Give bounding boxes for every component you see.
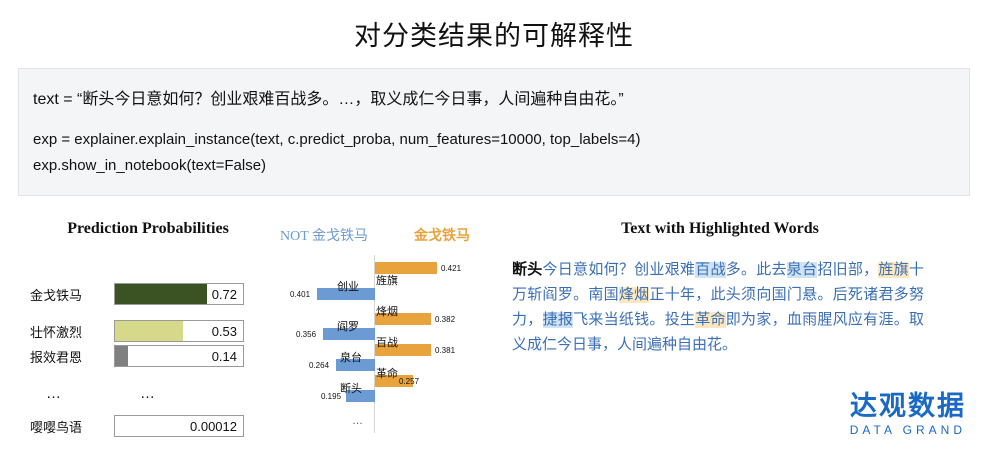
lime-value: 0.356 (296, 330, 316, 339)
text-segment-highlight: 烽烟 (619, 287, 650, 303)
lime-value: 0.381 (435, 346, 455, 355)
lime-word: 泉台 (340, 349, 362, 365)
prediction-probabilities-title: Prediction Probabilities (38, 220, 258, 238)
lime-word: 断头 (340, 380, 362, 396)
text-segment: 断头 (512, 262, 543, 278)
highlighted-text-body: 断头今日意如何？创业艰难百战多。此去泉台招旧部，旌旗十万斩阎罗。南国烽烟正十年，… (512, 258, 924, 358)
prediction-ellipsis-label: … (46, 385, 61, 402)
lime-value: 0.382 (435, 315, 455, 324)
code-line-text: text = “断头今日意如何？创业艰难百战多。…，取义成仁今日事，人间遍种自由… (33, 85, 624, 109)
lime-word: 阎罗 (337, 318, 359, 334)
text-segment-highlight: 百战 (695, 262, 726, 278)
code-line-show: exp.show_in_notebook(text=False) (33, 157, 266, 174)
text-segment: 今日意如何？ (543, 262, 635, 278)
lime-word: 百战 (376, 334, 398, 350)
prediction-label: 壮怀激烈 (30, 322, 108, 341)
lime-value: 0.401 (290, 290, 310, 299)
brand-logo: 达观数据 DATA GRAND (850, 391, 966, 437)
legend-negative-label: NOT 金戈铁马 (262, 225, 386, 245)
text-segment: 飞来当纸钱。投生 (573, 312, 695, 328)
text-segment: 艰难 (665, 262, 696, 278)
code-line-explain: exp = explainer.explain_instance(text, c… (33, 131, 641, 148)
lime-word: 创业 (337, 278, 359, 294)
prediction-bar-fill (115, 346, 128, 366)
prediction-label: 报效君恩 (30, 347, 108, 366)
lime-ellipsis: … (352, 415, 363, 427)
text-segment: 阎罗 (543, 287, 574, 303)
prediction-value: 0.00012 (190, 419, 237, 434)
prediction-label: 金戈铁马 (30, 285, 108, 304)
prediction-bar-track: 0.00012 (114, 415, 244, 437)
prediction-bar-track: 0.14 (114, 345, 244, 367)
prediction-value: 0.14 (212, 349, 237, 364)
code-block: text = “断头今日意如何？创业艰难百战多。…，取义成仁今日事，人间遍种自由… (18, 68, 970, 196)
lime-value: 0.264 (309, 361, 329, 370)
logo-subtitle: DATA GRAND (850, 423, 966, 437)
text-segment-highlight: 革命 (695, 312, 726, 328)
lime-value: 0.421 (441, 264, 461, 273)
text-segment-highlight: 泉台 (787, 262, 818, 278)
prediction-label: 嘤嘤鸟语 (30, 417, 108, 436)
prediction-ellipsis-value: … (140, 385, 155, 402)
lime-value: 0.195 (321, 392, 341, 401)
lime-word: 革命 (376, 365, 398, 381)
legend-positive-label: 金戈铁马 (390, 225, 494, 245)
lime-word: 烽烟 (376, 303, 398, 319)
text-segment: 招旧部， (817, 262, 878, 278)
prediction-bar-track: 0.72 (114, 283, 244, 305)
lime-value: 0.257 (399, 377, 419, 386)
text-segment: 创业 (634, 262, 665, 278)
prediction-bar-fill (115, 284, 207, 304)
page-title: 对分类结果的可解释性 (0, 14, 988, 53)
text-segment-highlight: 旌旗 (878, 262, 909, 278)
logo-title: 达观数据 (850, 391, 966, 421)
lime-word: 旌旗 (376, 272, 398, 288)
text-segment-highlight: 捷报 (543, 312, 574, 328)
prediction-value: 0.72 (212, 287, 237, 302)
highlighted-text-title: Text with Highlighted Words (505, 220, 935, 238)
text-segment: 多。此去 (726, 262, 787, 278)
prediction-bar-fill (115, 321, 183, 341)
text-segment: 。南国 (573, 287, 619, 303)
prediction-bar-track: 0.53 (114, 320, 244, 342)
prediction-value: 0.53 (212, 324, 237, 339)
